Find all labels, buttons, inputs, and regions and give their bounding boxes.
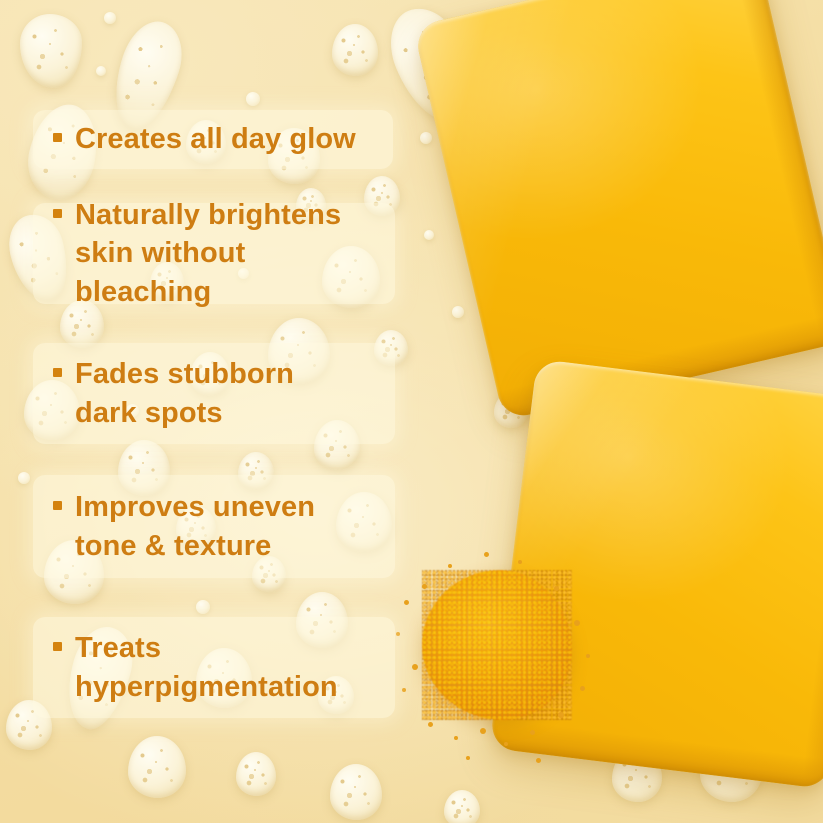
benefit-panel: Naturally brightens skin without bleachi… — [33, 203, 395, 304]
benefit-text: Naturally brightens skin without bleachi… — [75, 196, 375, 311]
benefit-panel: Fades stubborn dark spots — [33, 343, 395, 444]
foam-blob — [18, 472, 30, 484]
foam-blob — [196, 600, 210, 614]
powder-speck — [404, 600, 409, 605]
foam-blob — [424, 230, 434, 240]
powder-speck — [466, 756, 470, 760]
bullet-square-icon — [53, 642, 62, 651]
powder-speck — [558, 712, 564, 718]
powder-speck — [412, 664, 418, 670]
foam-blob — [330, 764, 382, 820]
foam-blob — [452, 306, 464, 318]
foam-blob — [128, 736, 186, 798]
foam-blob — [332, 24, 378, 76]
powder-speck — [536, 758, 541, 763]
benefit-text: Creates all day glow — [75, 120, 356, 158]
powder-speck — [530, 730, 535, 735]
benefit-panel: Improves uneven tone & texture — [33, 475, 395, 578]
powder-mound — [422, 570, 572, 720]
powder-speck — [586, 654, 590, 658]
powder-grain-texture — [422, 570, 572, 720]
powder-speck — [518, 560, 522, 564]
powder-speck — [580, 686, 585, 691]
powder-speck — [480, 728, 486, 734]
powder-speck — [448, 564, 452, 568]
powder-speck — [574, 620, 580, 626]
powder-speck — [554, 586, 559, 591]
benefit-text: Improves uneven tone & texture — [75, 488, 315, 565]
bullet-square-icon — [53, 368, 62, 377]
bullet-square-icon — [53, 209, 62, 218]
powder-speck — [454, 736, 458, 740]
powder-speck — [402, 688, 406, 692]
powder-speck — [428, 722, 433, 727]
turmeric-powder-pile — [388, 546, 618, 782]
foam-blob — [236, 752, 276, 796]
benefit-panel: Treats hyperpigmentation — [33, 617, 395, 718]
bullet-square-icon — [53, 501, 62, 510]
powder-speck — [504, 742, 508, 746]
bullet-square-icon — [53, 133, 62, 142]
powder-speck — [422, 584, 427, 589]
benefit-text: Treats hyperpigmentation — [75, 629, 338, 706]
powder-speck — [484, 552, 489, 557]
powder-speck — [396, 632, 400, 636]
foam-blob — [246, 92, 260, 106]
product-benefits-image: Creates all day glow Naturally brightens… — [0, 0, 823, 823]
foam-blob — [96, 66, 106, 76]
benefit-text: Fades stubborn dark spots — [75, 355, 294, 432]
benefit-panel: Creates all day glow — [33, 110, 393, 169]
foam-blob — [104, 12, 116, 24]
foam-blob — [420, 132, 432, 144]
